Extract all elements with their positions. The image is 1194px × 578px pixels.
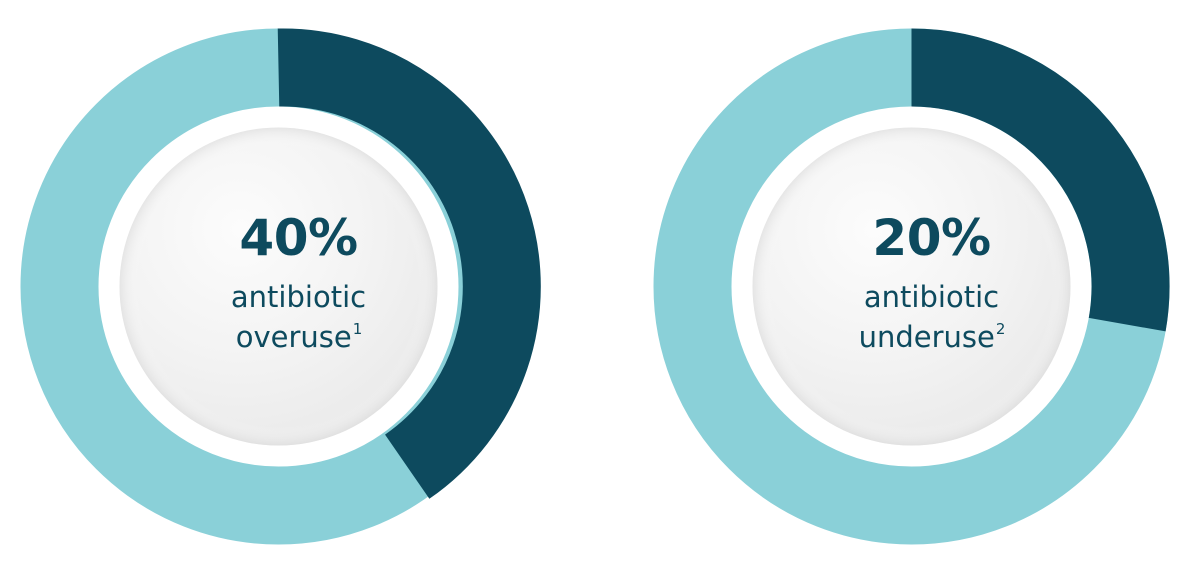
donut-chart-antibiotic-overuse: 40% antibiotic overuse1 — [0, 0, 597, 578]
donut-chart-antibiotic-underuse: 20% antibiotic underuse2 — [597, 0, 1194, 578]
donut-inner-disc-rim — [120, 128, 438, 446]
donut-graphic-overuse — [0, 0, 597, 578]
infographic-canvas: 40% antibiotic overuse1 — [0, 0, 1194, 578]
donut-graphic-underuse — [597, 0, 1194, 578]
donut-inner-disc-rim — [753, 128, 1071, 446]
